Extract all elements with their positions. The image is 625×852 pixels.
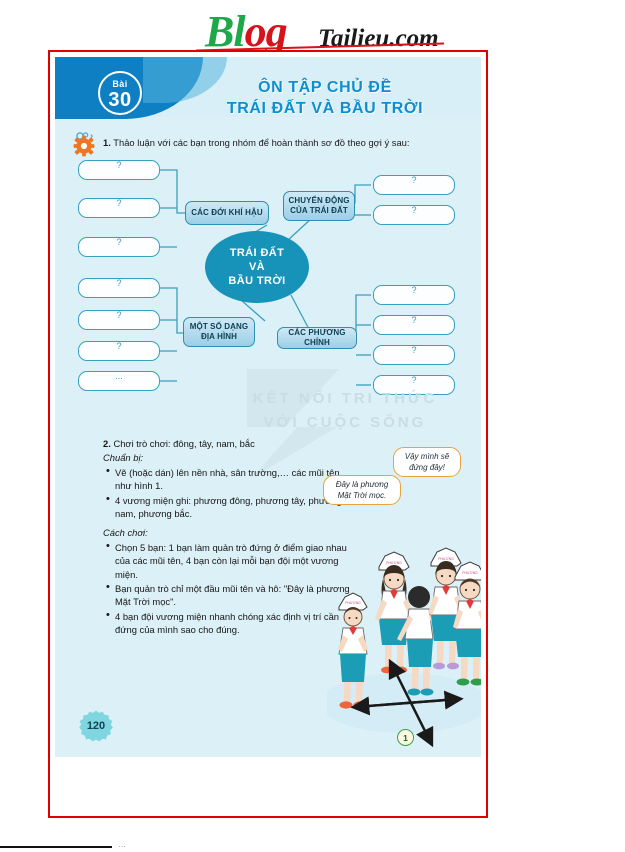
branch-node-motion[interactable]: CHUYỂN ĐỘNG CỦA TRÁI ĐẤT bbox=[283, 191, 355, 221]
task1-instruction: 1. Thảo luận với các bạn trong nhóm để h… bbox=[103, 136, 477, 149]
leaf-box[interactable]: ? bbox=[78, 160, 160, 180]
page-title-line1: ÔN TẬP CHỦ ĐỀ bbox=[175, 77, 475, 98]
task1-number: 1. bbox=[103, 137, 111, 148]
speech-bubble-left: Đây là phương Mặt Trời mọc. bbox=[323, 475, 401, 505]
speech-bubble-top: Vậy mình sẽ đứng đây! bbox=[393, 447, 461, 477]
task2-prepare-item: Vẽ (hoặc dán) lên nền nhà, sân trường,… … bbox=[103, 466, 353, 493]
leaf-box[interactable]: ? bbox=[373, 315, 455, 335]
figure-number: 1 bbox=[397, 729, 414, 746]
svg-text:PHƯƠNG: PHƯƠNG bbox=[438, 557, 454, 561]
leaf-box[interactable]: ? bbox=[373, 205, 455, 225]
leaf-box[interactable]: ? bbox=[373, 175, 455, 195]
svg-text:PHƯƠNG: PHƯƠNG bbox=[386, 561, 402, 565]
leaf-box[interactable]: ? bbox=[373, 375, 455, 395]
task2-play-heading: Cách chơi: bbox=[103, 526, 353, 539]
leaf-box[interactable]: ? bbox=[78, 198, 160, 218]
leaf-box[interactable]: ? bbox=[373, 285, 455, 305]
svg-text:PHƯƠNG: PHƯƠNG bbox=[345, 601, 361, 605]
page-title: ÔN TẬP CHỦ ĐỀ TRÁI ĐẤT VÀ BẦU TRỜI bbox=[175, 77, 475, 119]
leaf-box[interactable]: ? bbox=[78, 310, 160, 330]
task2-prepare-item: 4 vương miện ghi: phương đông, phương tâ… bbox=[103, 494, 353, 521]
core-node[interactable]: TRÁI ĐẤT VÀ BẦU TRỜI bbox=[205, 231, 309, 303]
concept-map: ? ? ? ? ? ? ... ? ? ? ? ? ? CÁC ĐỚI KHÍ … bbox=[55, 155, 481, 423]
page-number: 120 bbox=[79, 709, 113, 743]
task2-text: Chơi trò chơi: đông, tây, nam, bắc bbox=[113, 438, 254, 449]
leaf-box[interactable]: ... bbox=[78, 371, 160, 391]
task2-heading: 2. Chơi trò chơi: đông, tây, nam, bắc bbox=[103, 437, 353, 450]
task2-number: 2. bbox=[103, 438, 111, 449]
task2-block: 2. Chơi trò chơi: đông, tây, nam, bắc Ch… bbox=[103, 437, 353, 638]
leaf-box[interactable]: ? bbox=[373, 345, 455, 365]
gear-icon bbox=[73, 131, 99, 157]
branch-node-climate[interactable]: CÁC ĐỚI KHÍ HẬU bbox=[185, 201, 269, 225]
leaf-box[interactable]: ? bbox=[78, 341, 160, 361]
bottom-rule bbox=[0, 846, 112, 848]
lesson-badge: Bài 30 bbox=[98, 71, 142, 115]
bottom-text: … bbox=[118, 843, 126, 849]
task2-play-item: Chọn 5 bạn: 1 bạn làm quản trò đứng ở đi… bbox=[103, 541, 353, 581]
textbook-page: Bài 30 ÔN TẬP CHỦ ĐỀ TRÁI ĐẤT VÀ BẦU TRỜ… bbox=[55, 57, 481, 757]
task2-play-item: 4 bạn đội vương miện nhanh chóng xác địn… bbox=[103, 610, 353, 637]
core-node-line3: BẦU TRỜI bbox=[228, 274, 285, 288]
core-node-line2: VÀ bbox=[228, 260, 285, 274]
branch-node-landform[interactable]: MỘT SỐ DẠNG ĐỊA HÌNH bbox=[183, 317, 255, 347]
page-number-text: 120 bbox=[87, 720, 105, 732]
branch-node-direction[interactable]: CÁC PHƯƠNG CHÍNH bbox=[277, 327, 357, 349]
game-illustration: PHƯƠNG PHƯƠNG bbox=[327, 457, 481, 757]
task2-play-item: Bạn quản trò chỉ một đầu mũi tên và hô: … bbox=[103, 582, 353, 609]
core-node-line1: TRÁI ĐẤT bbox=[228, 246, 285, 260]
task2-prepare-heading: Chuẩn bị: bbox=[103, 451, 353, 464]
lesson-badge-number: 30 bbox=[100, 91, 140, 110]
leaf-box[interactable]: ? bbox=[78, 237, 160, 257]
brand-tailieu-text: Tailieu.com bbox=[318, 25, 439, 53]
svg-text:PHƯƠNG: PHƯƠNG bbox=[462, 571, 478, 575]
bottom-cutoff-text: … bbox=[0, 843, 625, 852]
task1-text: Thảo luận với các bạn trong nhóm để hoàn… bbox=[113, 137, 409, 148]
page-title-line2: TRÁI ĐẤT VÀ BẦU TRỜI bbox=[175, 98, 475, 119]
leaf-box[interactable]: ? bbox=[78, 278, 160, 298]
